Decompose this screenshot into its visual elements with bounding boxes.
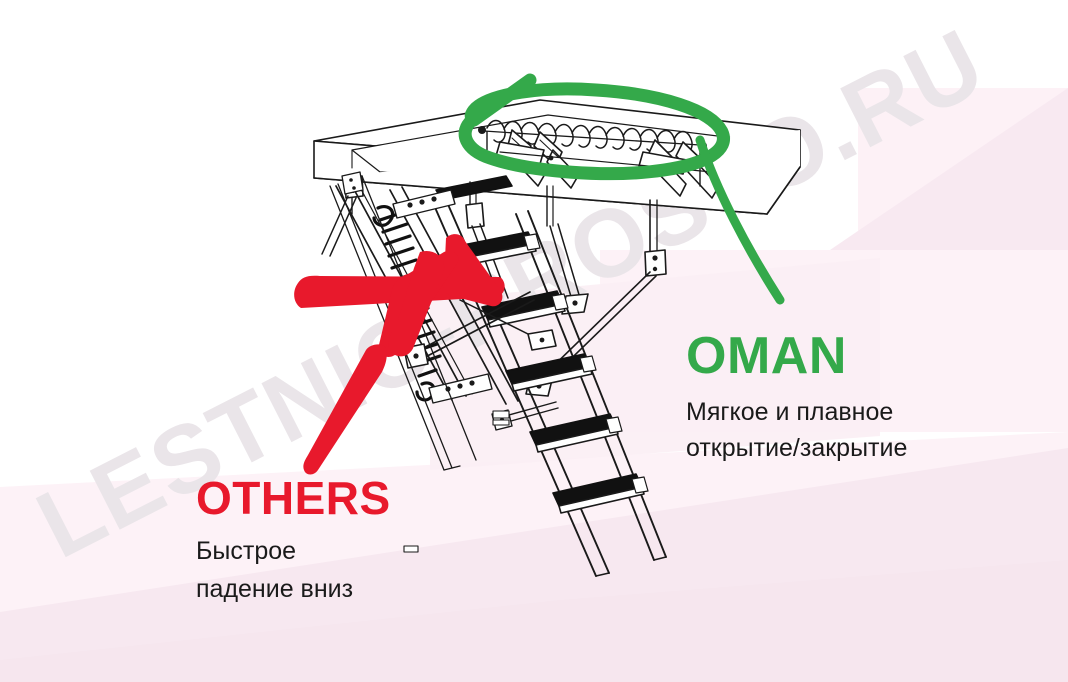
- oman-label-block: OMAN Мягкое и плавное открытие/закрытие: [686, 330, 907, 467]
- others-line-2: падение вниз: [196, 571, 391, 609]
- others-title: OTHERS: [196, 475, 391, 521]
- annotation-labels: OMAN Мягкое и плавное открытие/закрытие …: [0, 0, 1068, 682]
- others-line-1: Быстрое: [196, 533, 391, 571]
- others-label-block: OTHERS Быстрое падение вниз: [196, 475, 391, 608]
- oman-line-1: Мягкое и плавное: [686, 394, 907, 430]
- oman-description: Мягкое и плавное открытие/закрытие: [686, 394, 907, 467]
- others-description: Быстрое падение вниз: [196, 533, 391, 608]
- oman-line-2: открытие/закрытие: [686, 430, 907, 466]
- oman-title: OMAN: [686, 330, 907, 382]
- illustration-canvas: LESTNIC-PROSTO.RU: [0, 0, 1068, 682]
